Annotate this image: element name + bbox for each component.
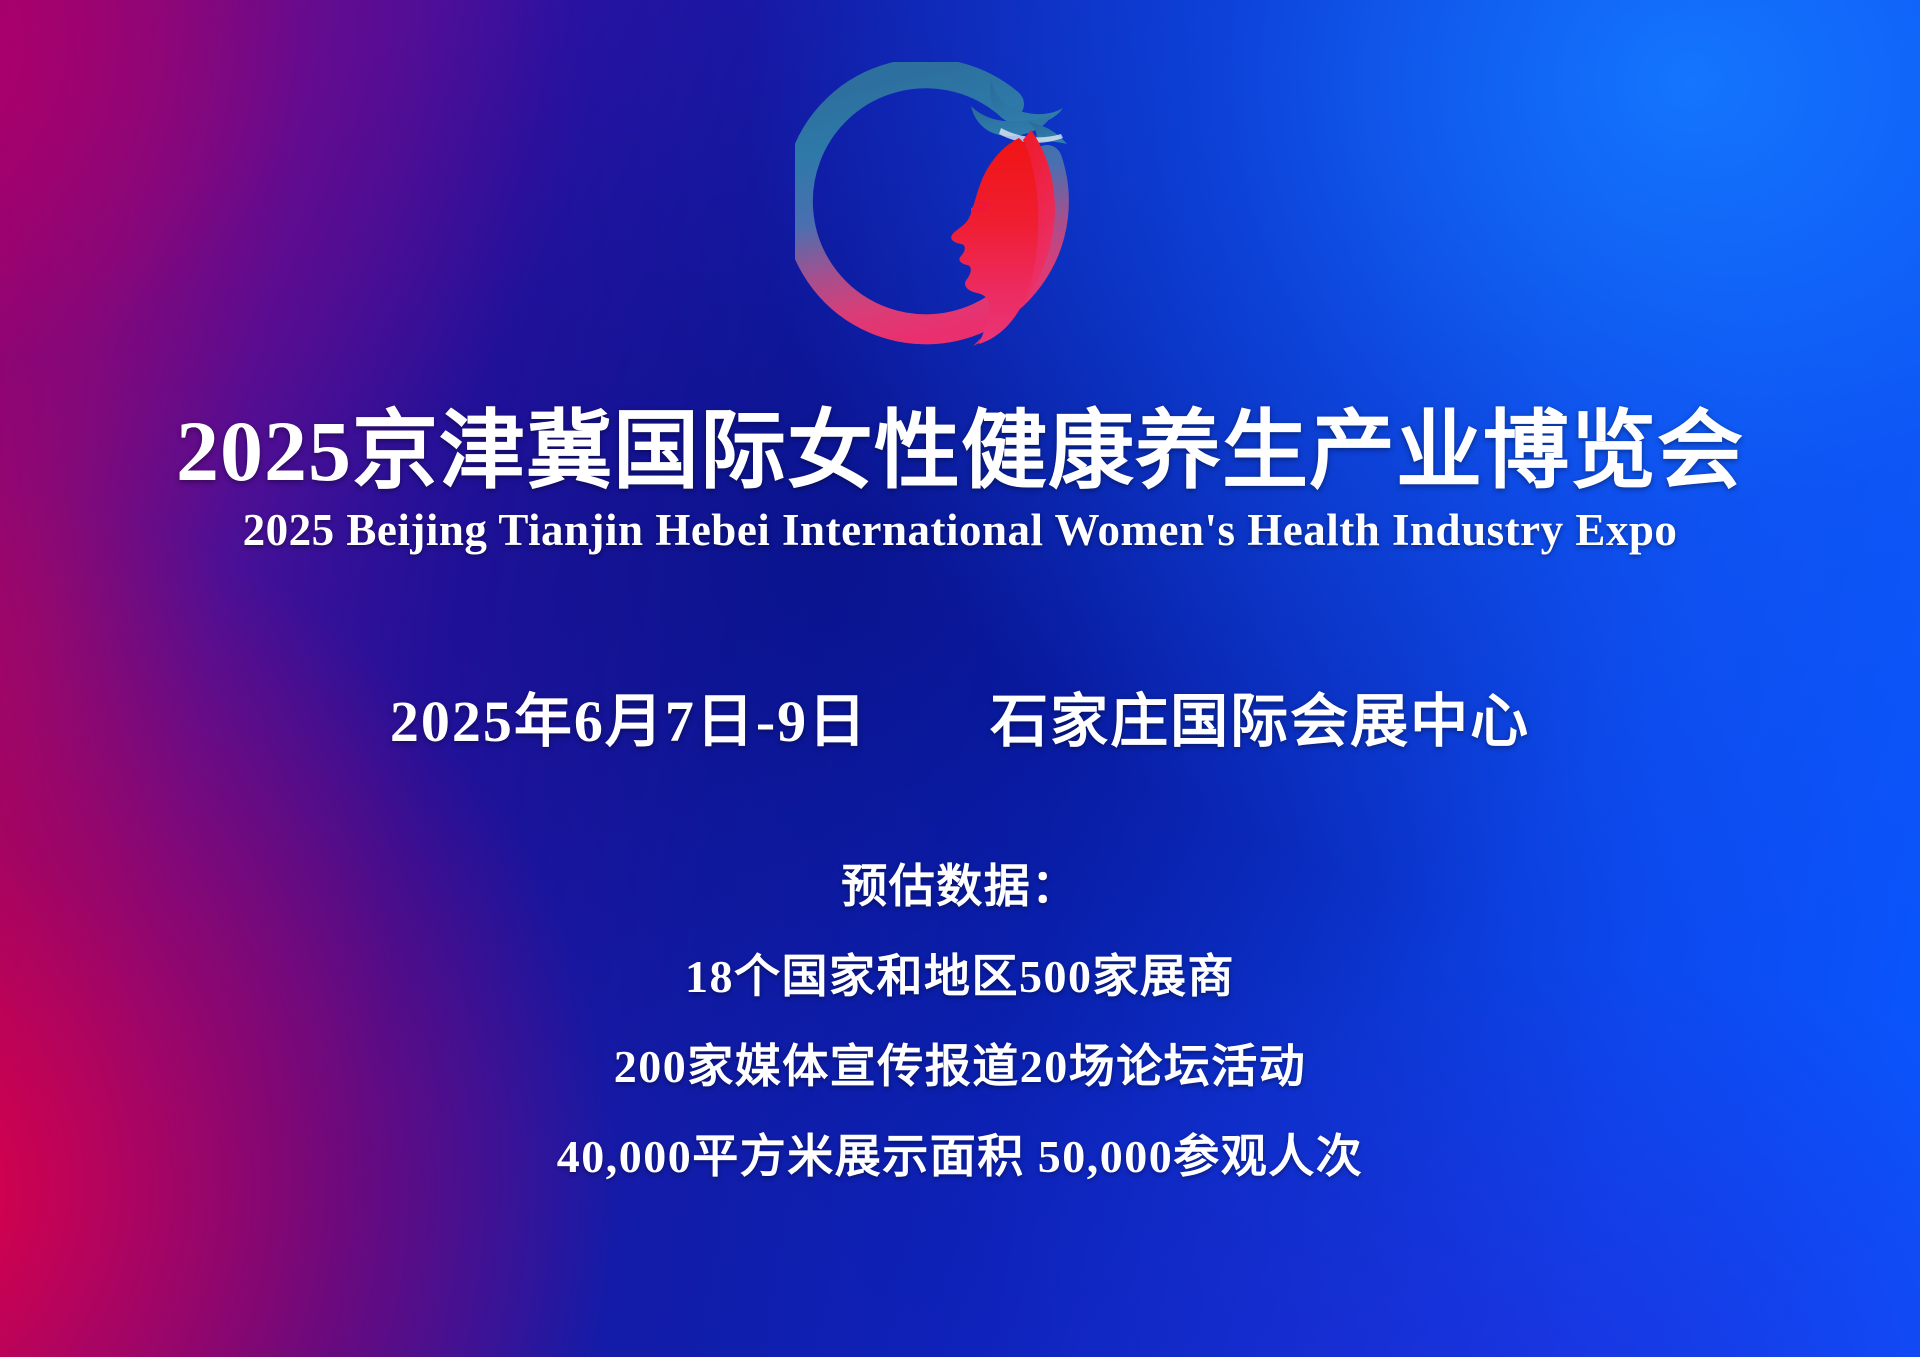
event-venue: 石家庄国际会展中心 bbox=[990, 674, 1530, 758]
stat-media-forums: 200家媒体宣传报道20场论坛活动 bbox=[614, 1044, 1307, 1090]
stat-exhibitors: 18个国家和地区500家展商 bbox=[685, 954, 1235, 1000]
dragon-circle-woman-profile-icon bbox=[795, 62, 1125, 392]
estimated-data-heading: 预估数据： bbox=[841, 864, 1079, 910]
stat-area-visitors: 40,000平方米展示面积 50,000参观人次 bbox=[557, 1134, 1364, 1180]
poster-title-english: 2025 Beijing Tianjin Hebei International… bbox=[243, 504, 1678, 556]
date-venue-row: 2025年6月7日-9日 石家庄国际会展中心 bbox=[390, 674, 1530, 758]
estimated-data-block: 预估数据： 18个国家和地区500家展商 200家媒体宣传报道20场论坛活动 4… bbox=[557, 864, 1364, 1180]
expo-logo bbox=[795, 62, 1125, 392]
expo-poster: 2025京津冀国际女性健康养生产业博览会 2025 Beijing Tianji… bbox=[0, 0, 1920, 1357]
poster-content: 2025京津冀国际女性健康养生产业博览会 2025 Beijing Tianji… bbox=[0, 0, 1920, 1357]
poster-title-chinese: 2025京津冀国际女性健康养生产业博览会 bbox=[176, 406, 1744, 496]
event-date: 2025年6月7日-9日 bbox=[390, 674, 868, 758]
